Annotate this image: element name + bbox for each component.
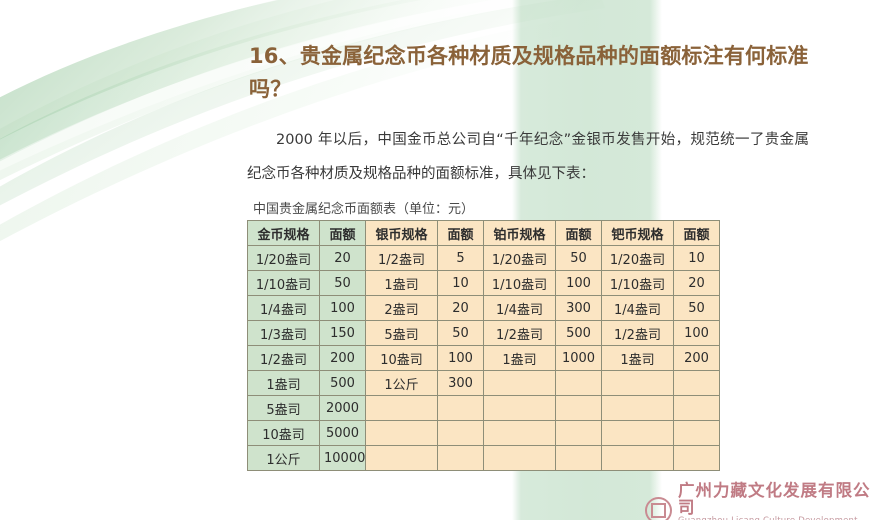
- cell-silver-spec: 5盎司: [366, 321, 438, 346]
- cell-palladium-spec: 1/2盎司: [602, 321, 674, 346]
- cell-platinum-value: [556, 421, 602, 446]
- cell-silver-spec: 2盎司: [366, 296, 438, 321]
- cell-gold-spec: 1盎司: [248, 371, 320, 396]
- cell-silver-value: 5: [438, 246, 484, 271]
- column-header-silver-value: 面额: [438, 221, 484, 246]
- cell-palladium-spec: [602, 446, 674, 471]
- cell-silver-spec: [366, 396, 438, 421]
- table-row: 5盎司 2000: [248, 396, 720, 421]
- column-header-gold-value: 面额: [320, 221, 366, 246]
- cell-silver-value: 300: [438, 371, 484, 396]
- cell-gold-spec: 1/20盎司: [248, 246, 320, 271]
- cell-silver-spec: [366, 421, 438, 446]
- cell-platinum-spec: 1盎司: [484, 346, 556, 371]
- table-row: 1/20盎司 20 1/2盎司 5 1/20盎司 50 1/20盎司 10: [248, 246, 720, 271]
- cell-platinum-spec: 1/20盎司: [484, 246, 556, 271]
- cell-palladium-value: [674, 421, 720, 446]
- cell-gold-spec: 10盎司: [248, 421, 320, 446]
- cell-palladium-value: 10: [674, 246, 720, 271]
- cell-platinum-value: 1000: [556, 346, 602, 371]
- cell-silver-value: [438, 396, 484, 421]
- cell-gold-value: 200: [320, 346, 366, 371]
- cell-silver-value: [438, 421, 484, 446]
- cell-platinum-value: 50: [556, 246, 602, 271]
- cell-platinum-value: [556, 371, 602, 396]
- cell-palladium-spec: [602, 396, 674, 421]
- cell-palladium-value: [674, 371, 720, 396]
- cell-palladium-spec: 1/4盎司: [602, 296, 674, 321]
- table-header-row: 金币规格 面额 银币规格 面额 铂币规格 面额 钯币规格 面额: [248, 221, 720, 246]
- cell-palladium-spec: 1/10盎司: [602, 271, 674, 296]
- denomination-table-wrapper: 金币规格 面额 银币规格 面额 铂币规格 面额 钯币规格 面额 1/20盎司 2…: [247, 220, 720, 471]
- cell-palladium-spec: 1/20盎司: [602, 246, 674, 271]
- table-row: 1/4盎司 100 2盎司 20 1/4盎司 300 1/4盎司 50: [248, 296, 720, 321]
- cell-platinum-spec: 1/4盎司: [484, 296, 556, 321]
- table-body: 金币规格 面额 银币规格 面额 铂币规格 面额 钯币规格 面额 1/20盎司 2…: [248, 221, 720, 471]
- table-row: 1公斤 10000: [248, 446, 720, 471]
- cell-palladium-value: 50: [674, 296, 720, 321]
- cell-platinum-spec: [484, 421, 556, 446]
- cell-gold-spec: 1/4盎司: [248, 296, 320, 321]
- column-header-gold-spec: 金币规格: [248, 221, 320, 246]
- cell-platinum-spec: [484, 446, 556, 471]
- cell-gold-spec: 1/2盎司: [248, 346, 320, 371]
- cell-gold-spec: 1/3盎司: [248, 321, 320, 346]
- cell-palladium-spec: [602, 421, 674, 446]
- cell-palladium-spec: 1盎司: [602, 346, 674, 371]
- table-row: 1/2盎司 200 10盎司 100 1盎司 1000 1盎司 200: [248, 346, 720, 371]
- cell-platinum-spec: [484, 371, 556, 396]
- column-header-palladium-value: 面额: [674, 221, 720, 246]
- cell-gold-value: 20: [320, 246, 366, 271]
- table-row: 1/3盎司 150 5盎司 50 1/2盎司 500 1/2盎司 100: [248, 321, 720, 346]
- cell-palladium-value: 20: [674, 271, 720, 296]
- cell-gold-value: 50: [320, 271, 366, 296]
- cell-platinum-value: [556, 396, 602, 421]
- cell-silver-spec: 1盎司: [366, 271, 438, 296]
- cell-gold-value: 500: [320, 371, 366, 396]
- table-caption: 中国贵金属纪念币面额表（单位：元）: [253, 198, 474, 217]
- cell-silver-value: 20: [438, 296, 484, 321]
- footer-brand: 广州力藏文化发展有限公司 Guangzhou Licang Culture De…: [645, 482, 879, 520]
- cell-gold-value: 100: [320, 296, 366, 321]
- cell-silver-value: 10: [438, 271, 484, 296]
- cell-platinum-spec: [484, 396, 556, 421]
- cell-gold-spec: 1/10盎司: [248, 271, 320, 296]
- cell-gold-spec: 5盎司: [248, 396, 320, 421]
- cell-platinum-value: 100: [556, 271, 602, 296]
- cell-platinum-value: 300: [556, 296, 602, 321]
- cell-palladium-spec: [602, 371, 674, 396]
- cell-silver-spec: 1公斤: [366, 371, 438, 396]
- brand-name-english: Guangzhou Licang Culture Development Co.…: [678, 516, 879, 520]
- slide-canvas: 16、贵金属纪念币各种材质及规格品种的面额标注有何标准吗？ 2000 年以后，中…: [0, 0, 879, 520]
- cell-palladium-value: [674, 446, 720, 471]
- denomination-table: 金币规格 面额 银币规格 面额 铂币规格 面额 钯币规格 面额 1/20盎司 2…: [247, 220, 720, 471]
- cell-gold-value: 2000: [320, 396, 366, 421]
- brand-name-chinese: 广州力藏文化发展有限公司: [678, 482, 879, 516]
- cell-silver-spec: 1/2盎司: [366, 246, 438, 271]
- column-header-platinum-value: 面额: [556, 221, 602, 246]
- cell-gold-value: 10000: [320, 446, 366, 471]
- cell-platinum-spec: 1/10盎司: [484, 271, 556, 296]
- cell-silver-spec: [366, 446, 438, 471]
- column-header-palladium-spec: 钯币规格: [602, 221, 674, 246]
- cell-platinum-value: 500: [556, 321, 602, 346]
- cell-palladium-value: [674, 396, 720, 421]
- brand-text-block: 广州力藏文化发展有限公司 Guangzhou Licang Culture De…: [678, 482, 879, 520]
- cell-gold-spec: 1公斤: [248, 446, 320, 471]
- cell-silver-spec: 10盎司: [366, 346, 438, 371]
- cell-palladium-value: 200: [674, 346, 720, 371]
- column-header-platinum-spec: 铂币规格: [484, 221, 556, 246]
- cell-platinum-value: [556, 446, 602, 471]
- table-row: 10盎司 5000: [248, 421, 720, 446]
- table-row: 1盎司 500 1公斤 300: [248, 371, 720, 396]
- cell-gold-value: 5000: [320, 421, 366, 446]
- cell-palladium-value: 100: [674, 321, 720, 346]
- cell-silver-value: 50: [438, 321, 484, 346]
- page-title: 16、贵金属纪念币各种材质及规格品种的面额标注有何标准吗？: [249, 40, 839, 106]
- cell-silver-value: 100: [438, 346, 484, 371]
- coin-logo-icon: [645, 497, 672, 520]
- table-row: 1/10盎司 50 1盎司 10 1/10盎司 100 1/10盎司 20: [248, 271, 720, 296]
- cell-silver-value: [438, 446, 484, 471]
- column-header-silver-spec: 银币规格: [366, 221, 438, 246]
- cell-platinum-spec: 1/2盎司: [484, 321, 556, 346]
- cell-gold-value: 150: [320, 321, 366, 346]
- body-paragraph: 2000 年以后，中国金币总公司自“千年纪念”金银币发售开始，规范统一了贵金属纪…: [247, 123, 809, 191]
